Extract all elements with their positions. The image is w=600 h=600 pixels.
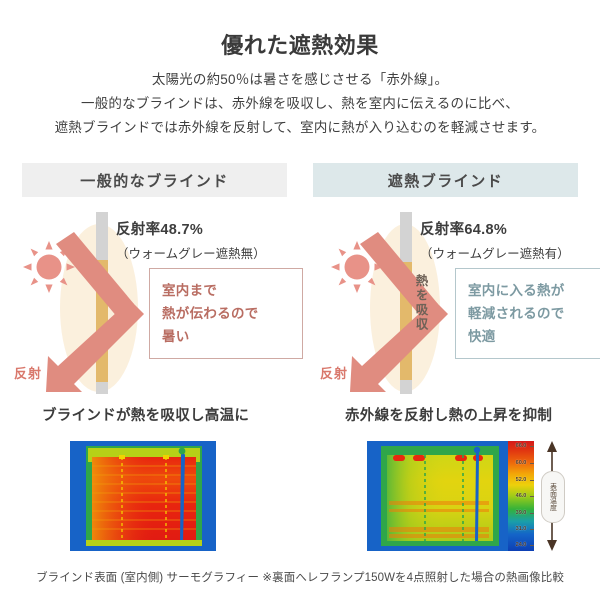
infographic-page: 優れた遮熱効果 太陽光の約50％は暑さを感じさせる「赤外線」。 一般的なブライン… [0, 0, 600, 600]
thermogram-caption-shading: 赤外線を反射し熱の上昇を抑制 [345, 404, 552, 425]
absorb-heat-label: 熱を吸収 [414, 274, 427, 332]
reflectance-readout: 反射率64.8% （ウォームグレー遮熱有） [420, 218, 570, 262]
callout-line: 軽減されるので [468, 302, 600, 325]
diagram-standard-blind: 反射 反射率48.7% （ウォームグレー遮熱無） 室内まで 熱が伝わるので 暑い [8, 212, 300, 394]
thermogram-caption-standard: ブラインドが熱を吸収し高温に [42, 404, 249, 425]
axis-label: 表面温度 [541, 471, 565, 523]
callout-line: 室内まで [162, 279, 290, 302]
thermogram-shading-blind [367, 441, 513, 551]
reflectance-value: 反射率48.7% [116, 222, 203, 238]
callout-line: 快適 [468, 325, 600, 348]
reflectance-note: （ウォームグレー遮熱無） [116, 243, 266, 262]
column-heading-shading: 遮熱ブラインド [313, 163, 578, 197]
lead-paragraph: 太陽光の約50％は暑さを感じさせる「赤外線」。 一般的なブラインドは、赤外線を吸… [0, 68, 600, 140]
thermogram-standard-blind [70, 441, 216, 551]
reflectance-note: （ウォームグレー遮熱有） [420, 243, 570, 262]
callout-box-shading: 室内に入る熱が 軽減されるので 快適 [455, 268, 600, 359]
reflectance-readout: 反射率48.7% （ウォームグレー遮熱無） [116, 218, 266, 262]
callout-line: 熱が伝わるので [162, 302, 290, 325]
diagram-shading-blind: 反射 熱を吸収 反射率64.8% （ウォームグレー遮熱有） 室内に入る熱が 軽減… [308, 212, 600, 394]
temperature-axis-arrow: 表面温度 [538, 441, 566, 551]
footnote: ブラインド表面 (室内側) サーモグラフィー ※裏面へレフランプ150Wを4点照… [0, 569, 600, 585]
page-title: 優れた遮熱効果 [0, 28, 600, 60]
temperature-scale: 66.0 60.0 52.0 46.0 39.0 31.0 24.0 [508, 441, 534, 551]
reflect-label: 反射 [320, 363, 348, 382]
lead-line-2: 一般的なブラインドは、赤外線を吸収し、熱を室内に伝えるのに比べ、 [0, 92, 600, 116]
column-heading-standard: 一般的なブラインド [22, 163, 287, 197]
callout-line: 室内に入る熱が [468, 279, 600, 302]
callout-line: 暑い [162, 325, 290, 348]
lead-line-1: 太陽光の約50％は暑さを感じさせる「赤外線」。 [0, 68, 600, 92]
lead-line-3: 遮熱ブラインドでは赤外線を反射して、室内に熱が入り込むのを軽減させます。 [0, 116, 600, 140]
reflect-label: 反射 [14, 363, 42, 382]
callout-box-standard: 室内まで 熱が伝わるので 暑い [149, 268, 303, 359]
reflectance-value: 反射率64.8% [420, 222, 507, 238]
